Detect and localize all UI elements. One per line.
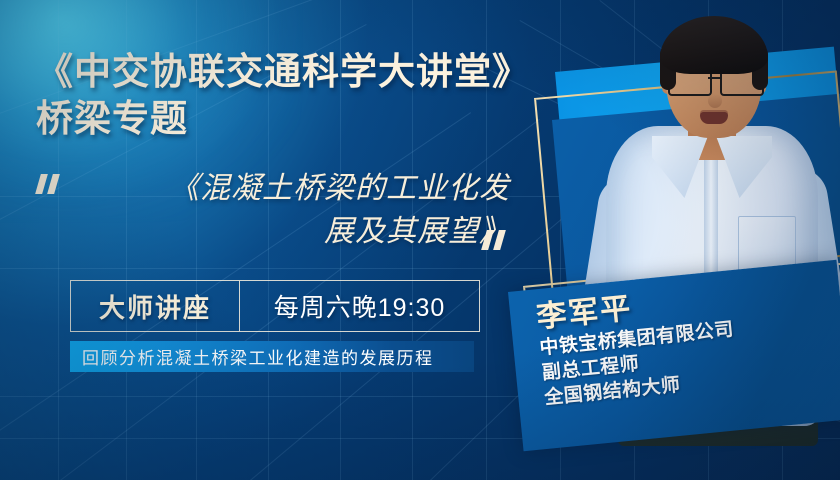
portrait-mouth <box>700 112 728 124</box>
tagline-banner: 回顾分析混凝土桥梁工业化建造的发展历程 <box>70 341 474 372</box>
lecture-schedule-box: 大师讲座 每周六晚19:30 <box>70 280 480 332</box>
lecture-time: 每周六晚19:30 <box>240 288 479 324</box>
portrait-nose <box>708 94 722 108</box>
speaker-name-card: 李军平 中铁宝桥集团有限公司 副总工程师 全国钢结构大师 <box>508 260 840 451</box>
quote-close-icon <box>484 230 514 250</box>
subtitle: 《混凝土桥梁的工业化发 展及其展望》 <box>80 168 510 253</box>
portrait-hair <box>660 16 768 74</box>
title-line-1: 《中交协联交通科学大讲堂》 <box>36 48 556 95</box>
title-line-2: 桥梁专题 <box>36 95 556 142</box>
lecture-label: 大师讲座 <box>71 288 239 325</box>
subtitle-block: 《混凝土桥梁的工业化发 展及其展望》 <box>34 168 534 264</box>
subtitle-line-1: 《混凝土桥梁的工业化发 <box>80 168 510 211</box>
poster-canvas: 李军平 中铁宝桥集团有限公司 副总工程师 全国钢结构大师 《中交协联交通科学大讲… <box>0 0 840 480</box>
page-title: 《中交协联交通科学大讲堂》 桥梁专题 <box>36 48 556 143</box>
quote-open-icon <box>38 174 68 194</box>
tagline-text: 回顾分析混凝土桥梁工业化建造的发展历程 <box>82 344 434 369</box>
subtitle-line-2: 展及其展望》 <box>80 211 510 254</box>
